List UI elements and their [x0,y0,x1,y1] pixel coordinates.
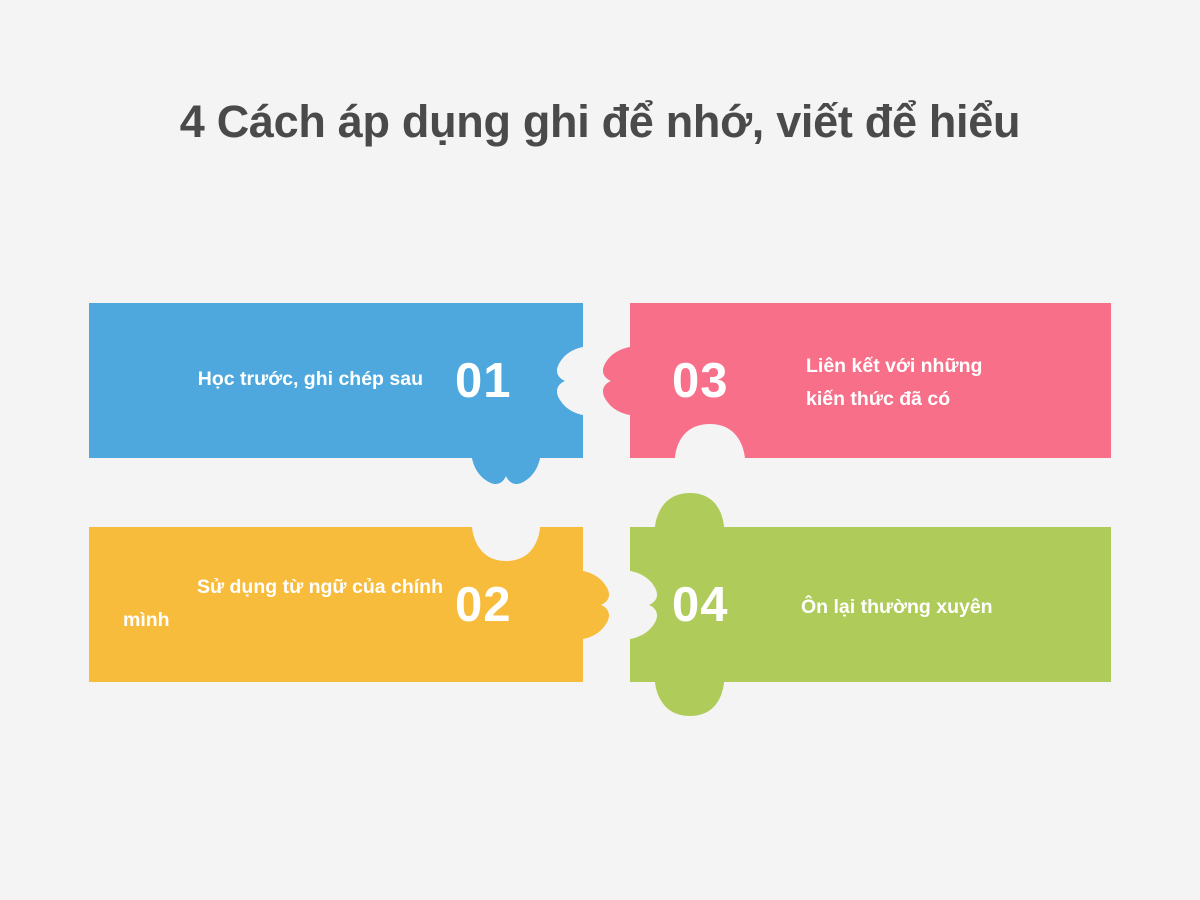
puzzle-piece-03-number: 03 [672,354,729,408]
puzzle-piece-04-text-line1: Ôn lại thường xuyên [801,594,993,618]
puzzle-piece-03[interactable]: 03 Liên kết với những kiến thức đã có [603,303,1111,458]
puzzle-piece-04[interactable]: 04 Ôn lại thường xuyên [630,493,1111,716]
infographic-page: 4 Cách áp dụng ghi để nhớ, viết để hiểu … [0,0,1200,900]
puzzle-piece-02-number: 02 [455,578,512,632]
puzzle-piece-03-text-line1: Liên kết với những [806,355,982,377]
puzzle-piece-04-number: 04 [672,578,729,632]
puzzle-piece-02-text-line2: mình [123,609,170,631]
puzzle-piece-03-text-line2: kiến thức đã có [806,388,950,410]
puzzle-piece-01[interactable]: Học trước, ghi chép sau 01 [89,303,583,484]
puzzle-piece-01-text-line1: Học trước, ghi chép sau [198,368,423,390]
puzzle-piece-02-text-line1: Sử dụng từ ngữ của chính [197,576,443,598]
puzzle-piece-02-shape [89,527,609,682]
puzzle-piece-02[interactable]: Sử dụng từ ngữ của chính mình 02 [89,527,609,682]
puzzle-piece-01-number: 01 [455,354,512,408]
puzzle-diagram: Học trước, ghi chép sau 01 03 Liên kết v… [0,0,1200,900]
